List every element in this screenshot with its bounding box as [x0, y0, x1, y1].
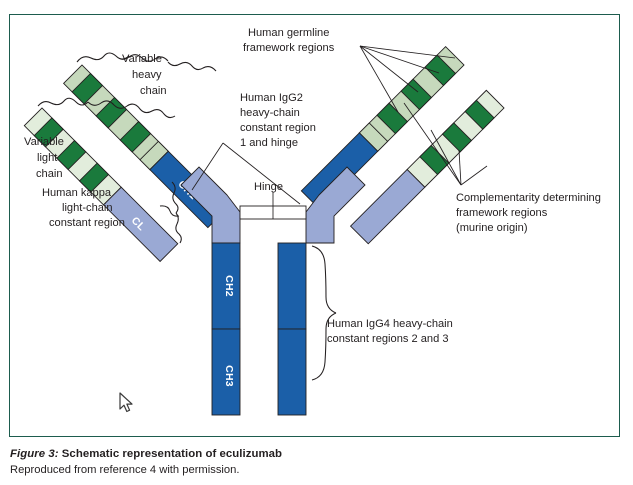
kappa-line-3: constant region — [49, 217, 125, 229]
kappa-line-1: Human kappa — [42, 187, 112, 199]
human-igg4-constant-regions-brace — [312, 246, 336, 380]
right-stem-ch3-domain — [278, 329, 306, 415]
cdr-leader-3 — [459, 150, 461, 185]
variable-heavy-chain-label: Variable heavy chain — [122, 53, 167, 97]
ch2-label: CH2 — [223, 275, 234, 297]
right-ch2-body — [278, 243, 306, 329]
vh-line-1: Variable — [122, 53, 162, 65]
human-germline-label: Human germline framework regions — [243, 27, 335, 54]
left-stem-ch3-domain: CH3 — [212, 329, 240, 415]
igg2-line-1: Human IgG2 — [240, 92, 303, 104]
cdr-line-2: framework regions — [456, 207, 548, 219]
vl-line-1: Variable — [24, 136, 64, 148]
left-stem-ch2-domain: CH2 — [212, 243, 240, 329]
vh-line-2: heavy — [132, 69, 162, 81]
ch3-label: CH3 — [223, 365, 234, 387]
vl-line-2: light — [37, 152, 57, 164]
germline-leader-1 — [360, 46, 398, 112]
cdr-line-3: (murine origin) — [456, 222, 528, 234]
cdr-line-1: Complementarity determining — [456, 192, 601, 204]
antibody-schematic-diagram: CH1 CL — [0, 0, 633, 485]
right-ch3-body — [278, 329, 306, 415]
right-cl-body — [351, 170, 425, 244]
caption-title-text: Schematic representation of eculizumab — [62, 448, 282, 460]
caption-figure-label: Figure 3: — [10, 448, 59, 460]
figure-page: CH1 CL — [0, 0, 633, 485]
vh-line-3: chain — [140, 85, 167, 97]
hinge-text: Hinge — [254, 181, 283, 193]
cdr-leader-4 — [461, 166, 487, 185]
hinge-bridge — [240, 192, 306, 219]
human-igg4-label: Human IgG4 heavy-chain constant regions … — [327, 318, 453, 345]
germline-line-2: framework regions — [243, 42, 335, 54]
germline-leader-3 — [360, 46, 439, 73]
kappa-line-2: light-chain — [62, 202, 113, 214]
caption-source-text: Reproduced from reference 4 with permiss… — [10, 463, 610, 478]
right-light-chain-cl-domain — [351, 170, 425, 244]
igg2-leader-2 — [223, 143, 300, 204]
complementarity-label: Complementarity determining framework re… — [456, 192, 601, 234]
germline-line-1: Human germline — [248, 27, 329, 39]
igg4-line-2: constant regions 2 and 3 — [327, 333, 449, 345]
vl-line-3: chain — [36, 168, 63, 180]
human-igg2-label: Human IgG2 heavy-chain constant region 1… — [240, 92, 316, 149]
igg2-line-3: constant region — [240, 122, 316, 134]
germline-leader-2 — [360, 46, 418, 92]
figure-caption: Figure 3: Schematic representation of ec… — [10, 447, 610, 478]
igg2-line-2: heavy-chain — [240, 107, 300, 119]
hinge-label: Hinge — [254, 181, 283, 193]
right-stem-ch2-domain — [278, 243, 306, 329]
igg2-line-4: 1 and hinge — [240, 137, 298, 149]
caption-title-line: Figure 3: Schematic representation of ec… — [10, 447, 610, 462]
igg4-line-1: Human IgG4 heavy-chain — [327, 318, 453, 330]
